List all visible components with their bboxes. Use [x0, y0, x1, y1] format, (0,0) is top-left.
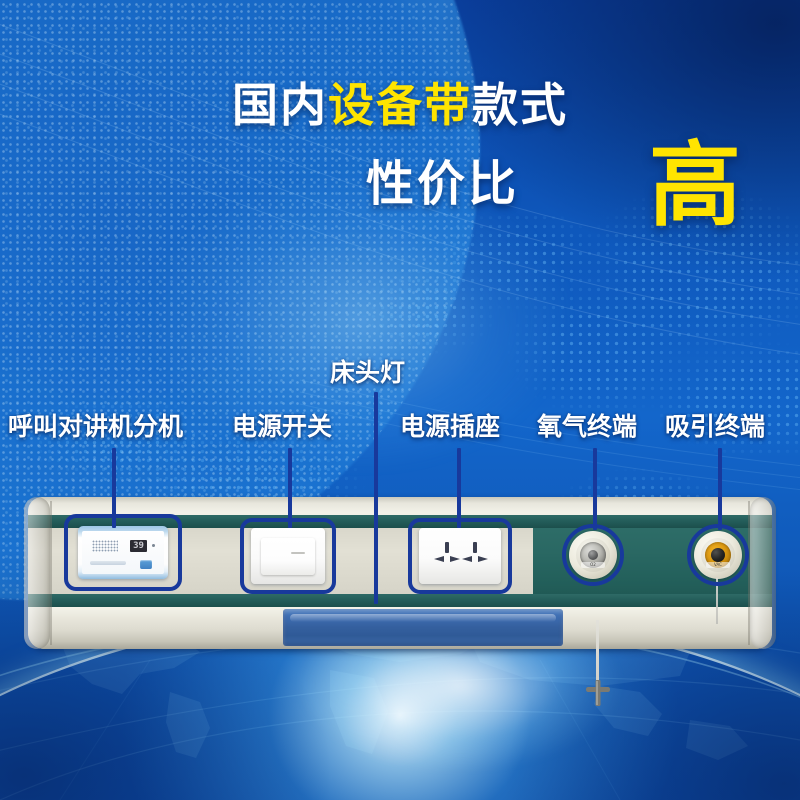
callout-label-suction-terminal: 吸引终端: [665, 414, 765, 439]
leader-line-suction-terminal: [718, 448, 722, 530]
callout-layer: 呼叫对讲机分机 电源开关 床头灯 电源插座 氧气终端 吸引终端: [0, 0, 800, 800]
callout-label-bed-lamp: 床头灯: [330, 360, 405, 385]
leader-line-oxygen-terminal: [593, 448, 597, 530]
callout-label-power-socket: 电源插座: [400, 414, 500, 439]
callout-label-oxygen-terminal: 氧气终端: [537, 414, 637, 439]
callout-label-intercom: 呼叫对讲机分机: [8, 414, 183, 439]
leader-line-power-switch: [288, 448, 292, 528]
leader-line-intercom: [112, 448, 116, 528]
promo-image-stage: 国内设备带款式 性价比 高 呼叫对讲机分机 电源开关 床头灯 电源插座 氧气终端…: [0, 0, 800, 800]
callout-label-power-switch: 电源开关: [232, 414, 332, 439]
leader-line-power-socket: [457, 448, 461, 528]
leader-line-bed-lamp: [374, 392, 378, 604]
